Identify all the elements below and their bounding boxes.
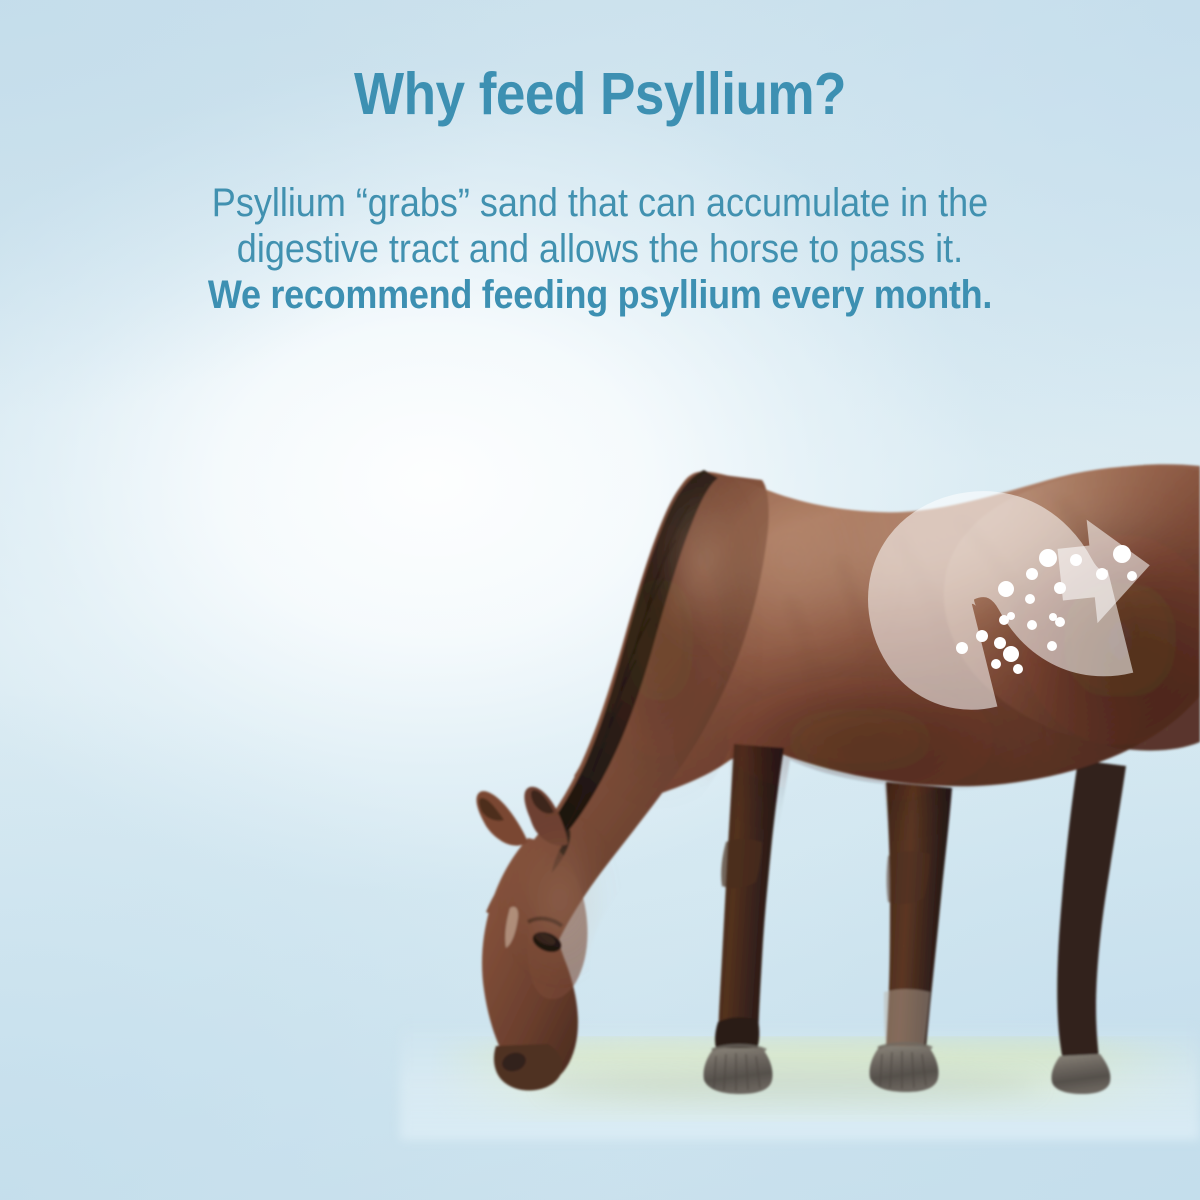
body-line-2: digestive tract and allows the horse to … xyxy=(60,226,1140,272)
infographic-canvas: Why feed Psyllium? Psyllium “grabs” sand… xyxy=(0,0,1200,1200)
body-copy: Psyllium “grabs” sand that can accumulat… xyxy=(0,180,1200,318)
text-block: Why feed Psyllium? Psyllium “grabs” sand… xyxy=(0,64,1200,318)
body-line-1: Psyllium “grabs” sand that can accumulat… xyxy=(60,180,1140,226)
body-line-3-recommendation: We recommend feeding psyllium every mont… xyxy=(60,272,1140,318)
page-title: Why feed Psyllium? xyxy=(60,64,1140,126)
